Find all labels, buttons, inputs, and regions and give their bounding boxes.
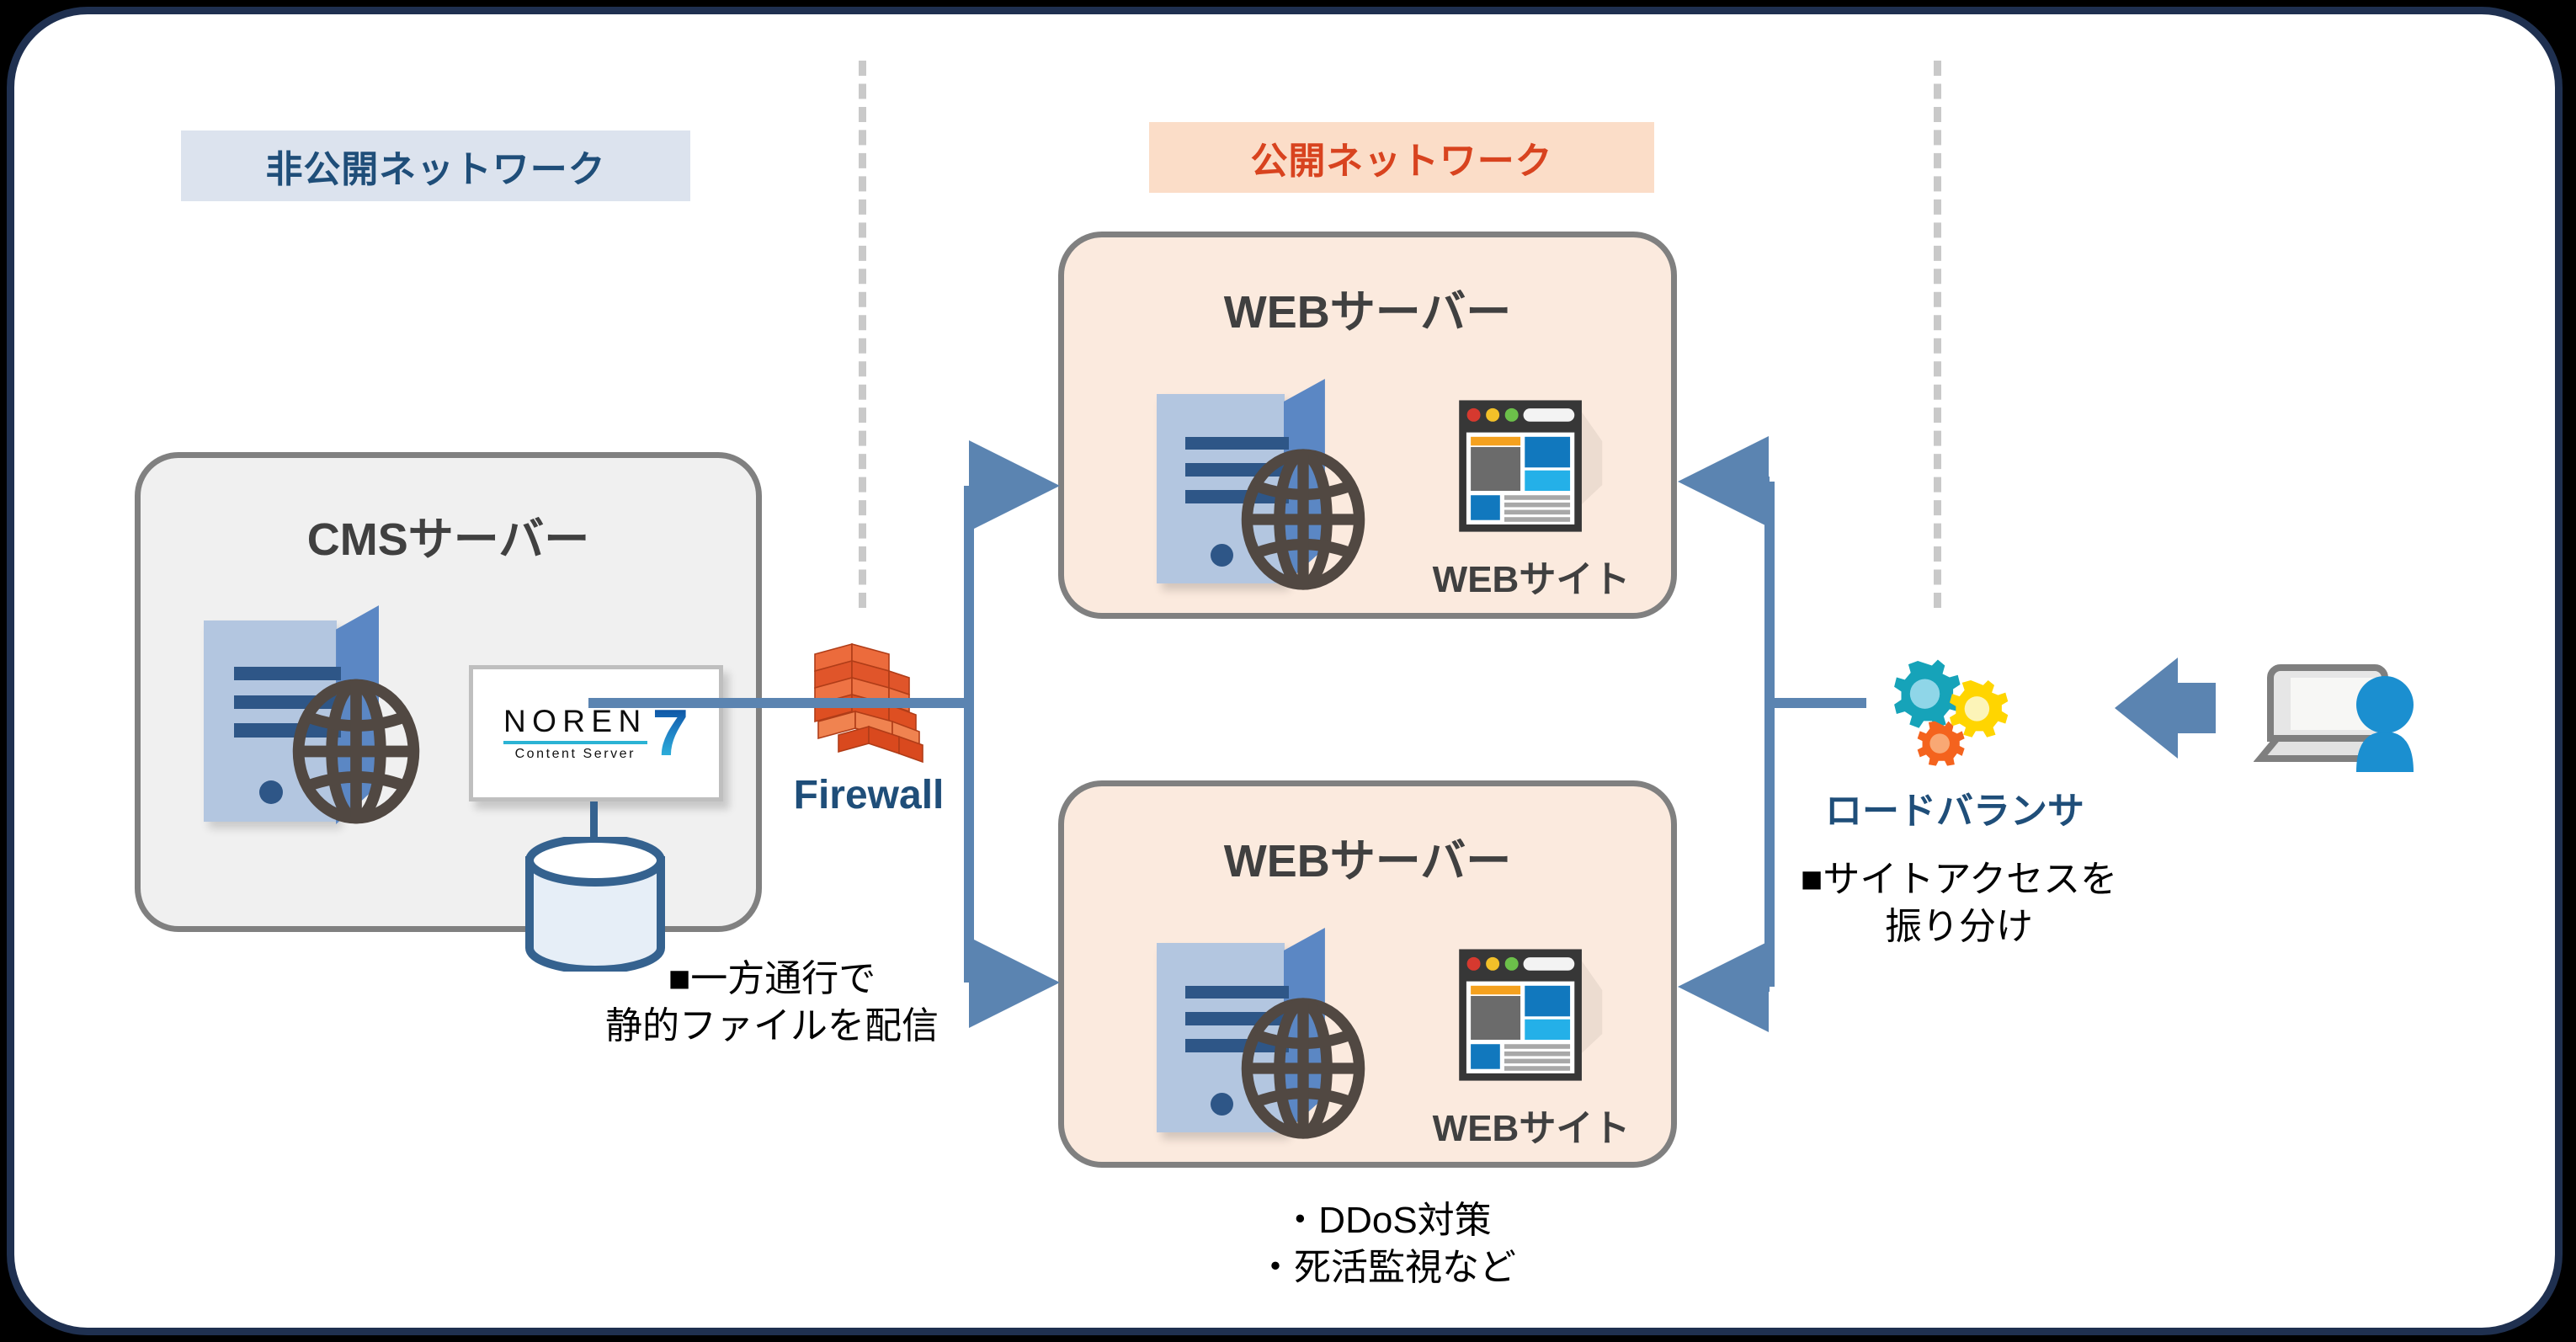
load-balancer-label: ロードバランサ — [1795, 780, 2115, 834]
globe-icon — [292, 678, 420, 825]
zone-divider-left — [859, 61, 866, 608]
noren-product-logo[interactable]: NOREN Content Server 7 — [469, 665, 723, 801]
left-block-arrow-icon — [2115, 658, 2216, 759]
server-globe-icon — [204, 605, 418, 824]
laptop-user-icon — [2254, 654, 2439, 789]
cms-server-title: CMSサーバー — [141, 502, 756, 568]
noren-tagline: Content Server — [515, 748, 636, 761]
browser-window-icon — [1456, 946, 1603, 1089]
server-globe-icon — [1157, 928, 1363, 1134]
firewall-label: Firewall — [751, 772, 987, 818]
server-globe-icon — [1157, 379, 1363, 585]
load-balancer-note: ■サイトアクセスを 振り分け — [1770, 856, 2148, 951]
web-site-label: WEBサイト — [1367, 1098, 1695, 1152]
diagram-frame: 非公開ネットワーク 公開ネットワーク CMSサーバー — [7, 7, 2563, 1335]
public-network-label: 公開ネットワーク — [1149, 122, 1654, 193]
private-network-label: 非公開ネットワーク — [181, 130, 690, 201]
server-power-led — [1211, 544, 1233, 567]
web-server-title: WEBサーバー — [1064, 274, 1671, 341]
globe-icon — [1241, 448, 1365, 591]
brick-wall-icon — [801, 637, 936, 780]
gears-icon — [1879, 654, 2018, 772]
database-cylinder-icon — [519, 837, 671, 972]
zone-divider-far-right — [1934, 61, 1941, 608]
browser-window-icon — [1456, 397, 1603, 541]
diagram-canvas: 非公開ネットワーク 公開ネットワーク CMSサーバー — [0, 0, 2576, 1342]
web-server-box-2[interactable]: WEBサーバー — [1058, 780, 1677, 1168]
web-server-box-1[interactable]: WEBサーバー — [1058, 232, 1677, 619]
private-network-text: 非公開ネットワーク — [266, 139, 606, 193]
features-note: ・DDoS対策 ・死活監視など — [1168, 1197, 1605, 1292]
server-power-led — [1211, 1093, 1233, 1116]
noren-rule — [503, 741, 647, 744]
globe-icon — [1241, 997, 1365, 1140]
oneway-note: ■一方通行で 静的ファイルを配信 — [553, 956, 991, 1051]
public-network-text: 公開ネットワーク — [1250, 130, 1552, 184]
cms-server-box[interactable]: CMSサーバー — [135, 452, 762, 932]
web-server-title: WEBサーバー — [1064, 823, 1671, 890]
noren-brand: NOREN — [503, 706, 647, 737]
noren-version: 7 — [652, 706, 689, 760]
web-site-label: WEBサイト — [1367, 549, 1695, 603]
